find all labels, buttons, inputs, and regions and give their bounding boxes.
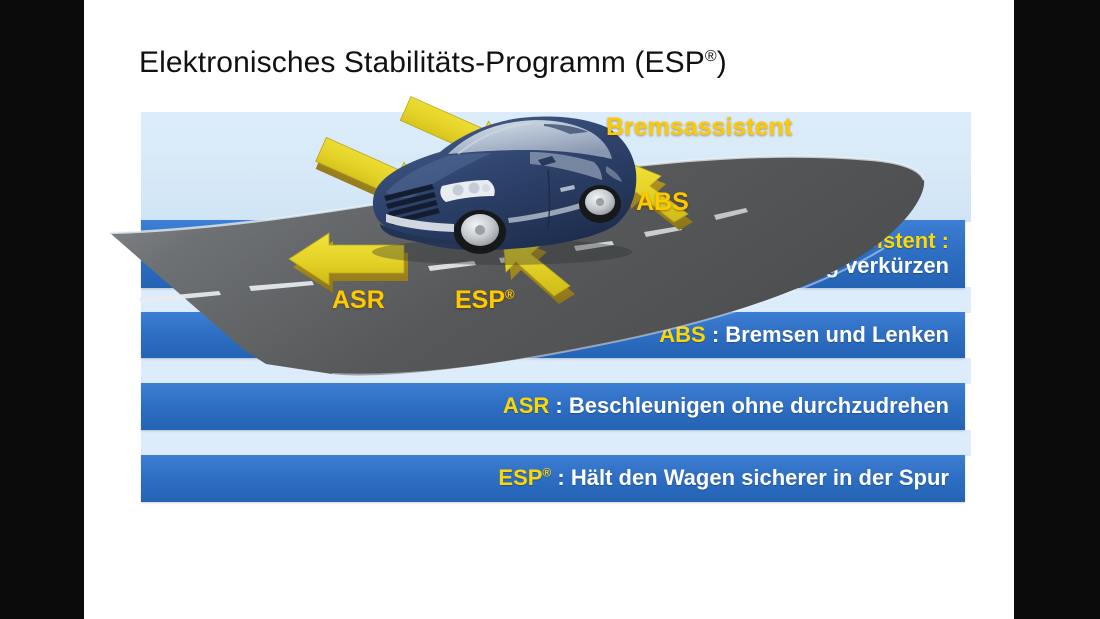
bar-abs-line: ABS : Bremsen und Lenken bbox=[659, 323, 949, 348]
bar-keyword: ABS bbox=[659, 322, 705, 347]
bar-description: Hält den Wagen sicherer in der Spur bbox=[571, 465, 949, 490]
bar-bremsassistent-line-2: Bremsweg verkürzen bbox=[728, 254, 949, 279]
bar-abs: ABS : Bremsen und Lenken bbox=[141, 312, 965, 358]
registered-mark-icon: ® bbox=[505, 287, 515, 302]
bar-keyword: Bremsassistent bbox=[772, 228, 936, 253]
bar-bremsassistent-line-1: Bremsassistent : bbox=[772, 229, 949, 254]
bar-description: Bremsen und Lenken bbox=[725, 322, 949, 347]
registered-mark-icon: ® bbox=[542, 466, 551, 480]
bar-asr: ASR : Beschleunigen ohne durchzudrehen bbox=[141, 383, 965, 430]
page-title-main: Elektronisches Stabilitäts-Programm (ESP bbox=[139, 46, 705, 79]
bar-keyword: ASR bbox=[503, 393, 549, 418]
sky-gap-band-2 bbox=[141, 358, 971, 384]
label-bremsassistent: Bremsassistent bbox=[606, 113, 792, 142]
label-esp-text: ESP bbox=[455, 286, 505, 314]
bar-asr-line: ASR : Beschleunigen ohne durchzudrehen bbox=[503, 394, 949, 419]
sky-gap-band-1 bbox=[141, 287, 971, 313]
label-asr: ASR bbox=[332, 286, 385, 315]
bar-separator: : bbox=[936, 228, 949, 253]
slide-stage: Elektronisches Stabilitäts-Programm (ESP… bbox=[0, 0, 1100, 619]
bar-esp-line: ESP® : Hält den Wagen sicherer in der Sp… bbox=[498, 466, 949, 491]
label-esp: ESP® bbox=[455, 286, 515, 315]
sky-panel bbox=[141, 112, 971, 222]
page-title: Elektronisches Stabilitäts-Programm (ESP… bbox=[139, 46, 727, 80]
page-title-tail: ) bbox=[717, 46, 727, 79]
bar-esp: ESP® : Hält den Wagen sicherer in der Sp… bbox=[141, 455, 965, 502]
letterbox-left bbox=[0, 0, 84, 619]
bar-bremsassistent: Bremsassistent : Bremsweg verkürzen bbox=[141, 220, 965, 288]
letterbox-right bbox=[1014, 0, 1100, 619]
slide-canvas: Elektronisches Stabilitäts-Programm (ESP… bbox=[84, 0, 1014, 619]
bar-separator: : bbox=[549, 393, 569, 418]
bar-separator: : bbox=[706, 322, 726, 347]
label-abs: ABS bbox=[636, 188, 689, 217]
bar-separator: : bbox=[551, 465, 571, 490]
registered-mark-icon: ® bbox=[705, 48, 717, 65]
sky-gap-band-3 bbox=[141, 430, 971, 456]
bar-keyword: ESP bbox=[498, 465, 542, 490]
bar-description: Beschleunigen ohne durchzudrehen bbox=[569, 393, 949, 418]
